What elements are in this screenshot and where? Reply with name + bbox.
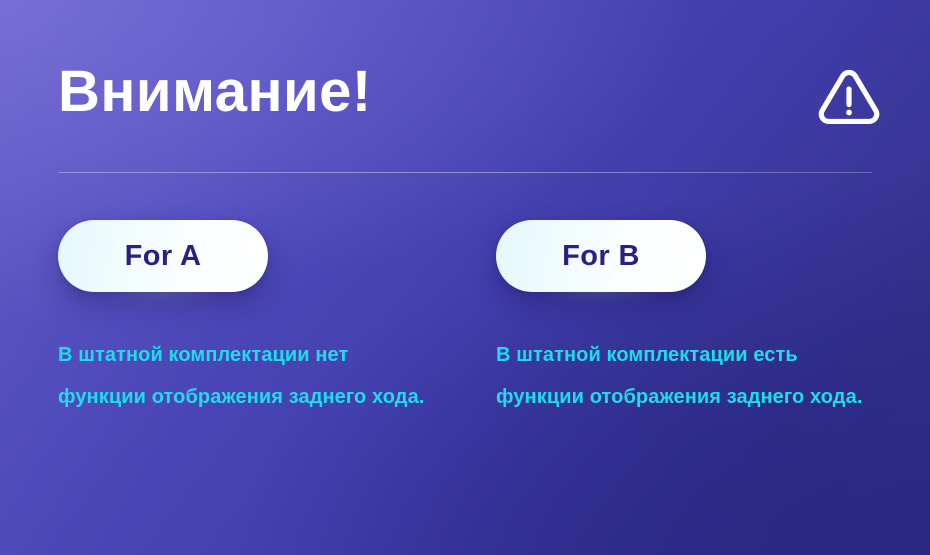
warning-triangle-icon xyxy=(814,62,884,132)
for-b-description: В штатной комплектации есть функции отоб… xyxy=(496,292,878,418)
column-for-a: For A В штатной комплектации нет функции… xyxy=(58,220,468,418)
header-divider xyxy=(58,172,872,173)
for-a-button[interactable]: For A xyxy=(58,220,268,292)
warning-slide: Внимание! For A В штатной комплектации н… xyxy=(0,0,930,555)
page-title: Внимание! xyxy=(58,56,372,128)
pill-wrap-for-a: For A xyxy=(58,220,268,292)
for-a-description: В штатной комплектации нет функции отобр… xyxy=(58,292,438,418)
pill-wrap-for-b: For B xyxy=(496,220,706,292)
comparison-columns: For A В штатной комплектации нет функции… xyxy=(58,220,878,418)
for-a-button-label: For A xyxy=(125,242,202,271)
column-for-b: For B В штатной комплектации есть функци… xyxy=(468,220,878,418)
for-b-button[interactable]: For B xyxy=(496,220,706,292)
for-b-button-label: For B xyxy=(562,242,640,271)
